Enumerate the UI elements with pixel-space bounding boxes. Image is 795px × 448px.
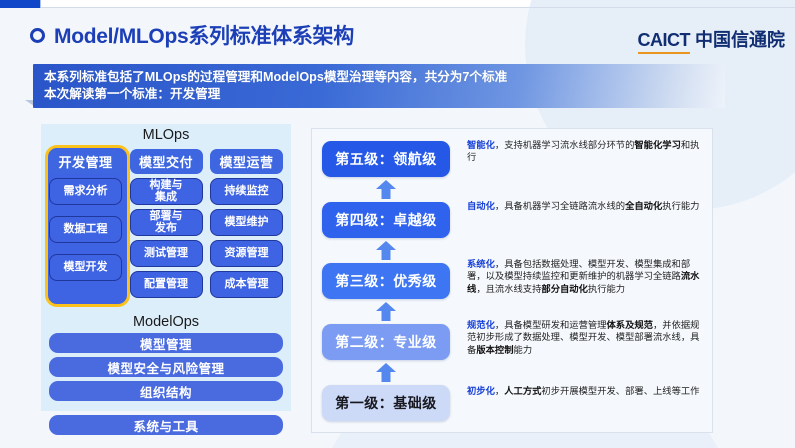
banner-line-1: 本系列标准包括了MLOps的过程管理和ModelOps模型治理等内容，共分为7个…: [44, 69, 725, 86]
caict-logo: CAICT 中国信通院: [638, 26, 786, 54]
modelops-group-title: ModelOps: [41, 311, 291, 330]
process-chip[interactable]: 构建与 集成: [130, 178, 203, 205]
column-header[interactable]: 模型运营: [210, 149, 283, 174]
process-chip[interactable]: 资源管理: [210, 240, 283, 267]
process-chip[interactable]: 持续监控: [210, 178, 283, 205]
top-accent-bar: [0, 0, 41, 8]
standards-architecture-panel: MLOps 开发管理需求分析数据工程模型开发模型交付构建与 集成部署与 发布测试…: [41, 124, 291, 437]
logo-text-en: CAICT: [638, 30, 691, 54]
ring-bullet-icon: [30, 28, 45, 43]
logo-text-cn: 中国信通院: [695, 26, 785, 52]
upward-arrow-icon: [375, 180, 397, 199]
upward-arrow-icon: [375, 302, 397, 321]
process-chip[interactable]: 数据工程: [49, 216, 122, 243]
column-header[interactable]: 模型交付: [130, 149, 203, 174]
process-chip[interactable]: 配置管理: [130, 271, 203, 298]
modelops-bar[interactable]: 组织结构: [49, 381, 283, 401]
modelops-items: 模型管理模型安全与风险管理组织结构: [41, 333, 291, 401]
upward-arrow-icon: [375, 363, 397, 382]
maturity-level-description-3: 系统化，具备包括数据处理、模型开发、模型集成和部署，以及模型持续监控和更新维护的…: [467, 258, 705, 295]
modelops-group: ModelOps 模型管理模型安全与风险管理组织结构: [41, 311, 291, 411]
maturity-level-description-4: 自动化，具备机器学习全链路流水线的全自动化执行能力: [467, 200, 705, 212]
maturity-level-box-2[interactable]: 第二级：专业级: [322, 324, 450, 360]
mlops-group-title: MLOps: [41, 124, 291, 143]
maturity-model-panel: 第五级：领航级智能化，支持机器学习流水线部分环节的智能化学习和执行第四级：卓越级…: [311, 128, 713, 433]
upward-arrow-icon: [375, 241, 397, 260]
process-chip[interactable]: 部署与 发布: [130, 209, 203, 236]
column-header[interactable]: 开发管理: [49, 149, 122, 174]
process-chip[interactable]: 模型开发: [49, 254, 122, 281]
mlops-column-3: 模型运营持续监控模型维护资源管理成本管理: [210, 149, 283, 298]
maturity-level-box-3[interactable]: 第三级：优秀级: [322, 263, 450, 299]
maturity-level-description-2: 规范化，具备模型研发和运营管理体系及规范，并依据规范初步形成了数据处理、模型开发…: [467, 319, 705, 356]
systems-and-tools-bar: 系统与工具: [49, 415, 283, 435]
mlops-column-2: 模型交付构建与 集成部署与 发布测试管理配置管理: [130, 149, 203, 298]
mlops-column-1: 开发管理需求分析数据工程模型开发: [49, 149, 122, 298]
process-chip[interactable]: 需求分析: [49, 178, 122, 205]
maturity-level-box-4[interactable]: 第四级：卓越级: [322, 202, 450, 238]
slide-root: Model/MLOps系列标准体系架构 CAICT 中国信通院 本系列标准包括了…: [0, 0, 795, 448]
modelops-bar[interactable]: 模型安全与风险管理: [49, 357, 283, 377]
process-chip[interactable]: 成本管理: [210, 271, 283, 298]
process-chip[interactable]: 测试管理: [130, 240, 203, 267]
page-title: Model/MLOps系列标准体系架构: [54, 20, 354, 50]
maturity-level-box-5[interactable]: 第五级：领航级: [322, 141, 450, 177]
maturity-level-description-1: 初步化，人工方式初步开展模型开发、部署、上线等工作: [467, 385, 705, 397]
maturity-level-box-1[interactable]: 第一级：基础级: [322, 385, 450, 421]
slide-header: Model/MLOps系列标准体系架构 CAICT 中国信通院: [0, 8, 795, 60]
process-chip[interactable]: 模型维护: [210, 209, 283, 236]
banner-line-2: 本次解读第一个标准：开发管理: [44, 86, 725, 103]
maturity-level-description-5: 智能化，支持机器学习流水线部分环节的智能化学习和执行: [467, 139, 705, 164]
modelops-bar[interactable]: 模型管理: [49, 333, 283, 353]
mlops-columns: 开发管理需求分析数据工程模型开发模型交付构建与 集成部署与 发布测试管理配置管理…: [41, 149, 291, 298]
mlops-group: MLOps 开发管理需求分析数据工程模型开发模型交付构建与 集成部署与 发布测试…: [41, 124, 291, 311]
summary-banner: 本系列标准包括了MLOps的过程管理和ModelOps模型治理等内容，共分为7个…: [33, 64, 725, 108]
